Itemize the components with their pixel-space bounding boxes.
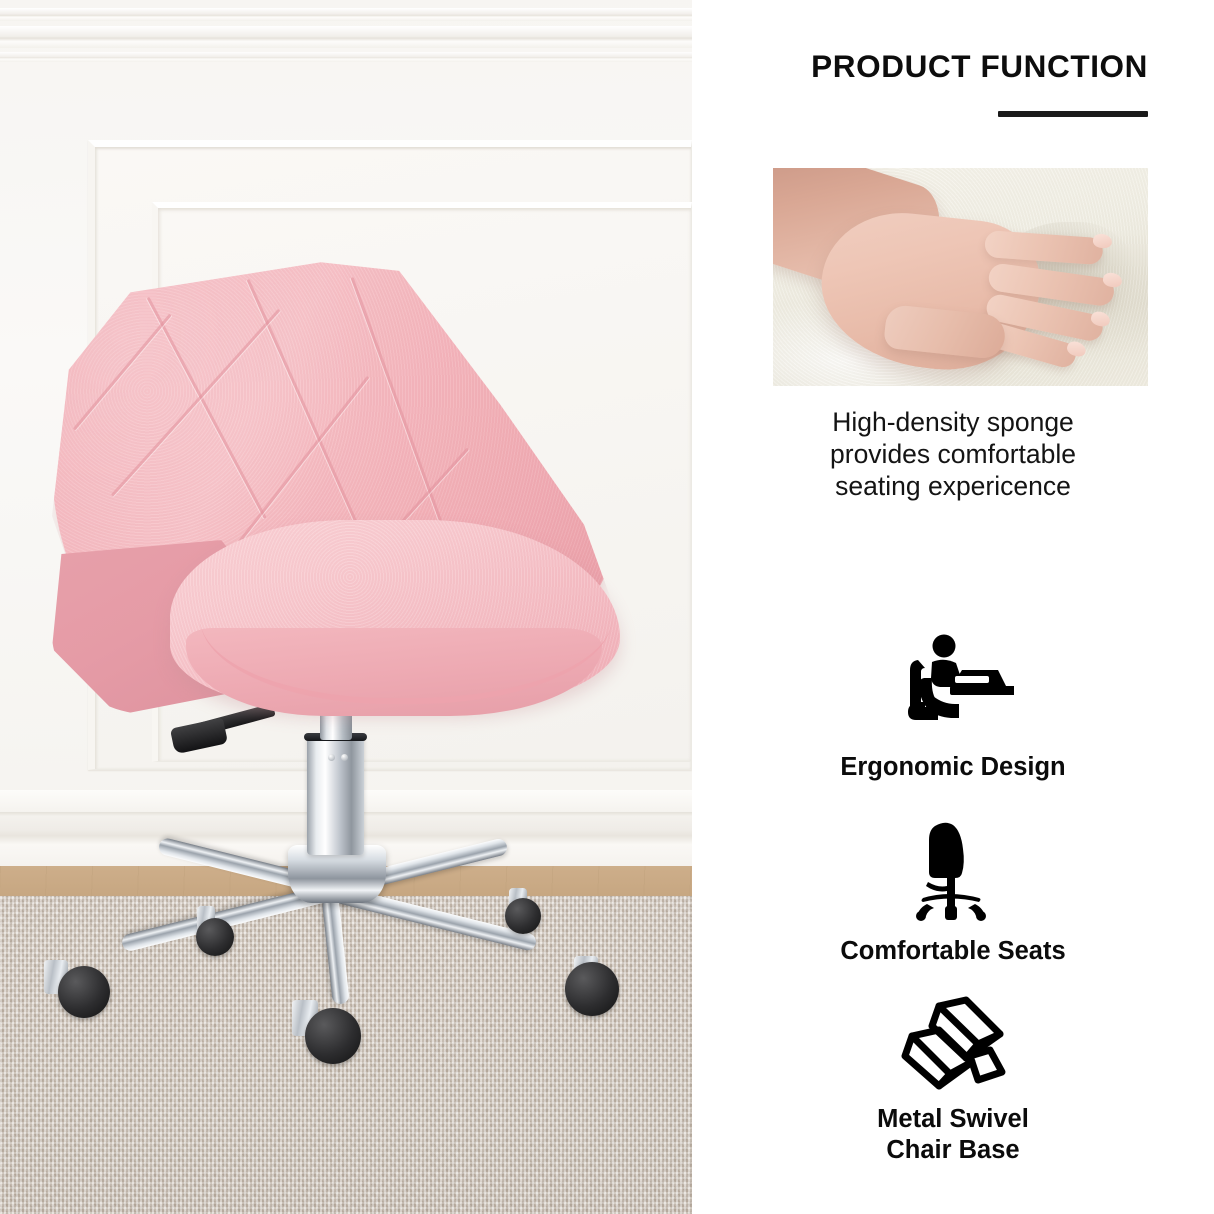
feature-label-line-1: Ergonomic Design — [692, 752, 1214, 783]
caster-mid-left[interactable] — [196, 918, 234, 956]
sponge-caption: High-density sponge provides comfortable… — [692, 406, 1214, 502]
title-underline-rule — [998, 111, 1148, 117]
feature-ergonomic-design: Ergonomic Design — [692, 634, 1214, 783]
caster-left[interactable] — [58, 966, 110, 1018]
feature-label-line-2: Chair Base — [692, 1135, 1214, 1166]
product-photo — [0, 0, 692, 1214]
base-leg-front-center — [322, 896, 350, 1005]
office-chair-icon — [692, 818, 1214, 922]
infographic-canvas: PRODUCT FUNCTION High-density sponge pro… — [0, 0, 1214, 1214]
page-title: PRODUCT FUNCTION — [692, 48, 1148, 85]
feature-label: Comfortable Seats — [692, 936, 1214, 967]
feature-metal-swivel-chair-base: Metal Swivel Chair Base — [692, 996, 1214, 1166]
cylinder-screw-right — [341, 754, 348, 761]
metal-ingot-bars-icon — [692, 996, 1214, 1090]
feature-label-line-1: Metal Swivel — [692, 1104, 1214, 1135]
swivel-chair — [0, 0, 692, 1214]
caster-front[interactable] — [305, 1008, 361, 1064]
feature-panel: PRODUCT FUNCTION High-density sponge pro… — [692, 0, 1214, 1214]
feature-label: Ergonomic Design — [692, 752, 1214, 783]
cylinder-screw-left — [328, 754, 335, 761]
feature-comfortable-seats: Comfortable Seats — [692, 818, 1214, 967]
feature-label: Metal Swivel Chair Base — [692, 1104, 1214, 1166]
gas-lift-cylinder — [307, 735, 364, 855]
height-adjust-lever-grip[interactable] — [170, 718, 228, 755]
sponge-caption-line-1: High-density sponge — [692, 406, 1214, 438]
sponge-photo — [773, 168, 1148, 386]
sponge-caption-line-3: seating expericence — [692, 470, 1214, 502]
caster-right[interactable] — [565, 962, 619, 1016]
person-sitting-at-desk-with-laptop-icon — [692, 634, 1214, 738]
sponge-caption-line-2: provides comfortable — [692, 438, 1214, 470]
feature-label-line-1: Comfortable Seats — [692, 936, 1214, 967]
caster-mid-right[interactable] — [505, 898, 541, 934]
